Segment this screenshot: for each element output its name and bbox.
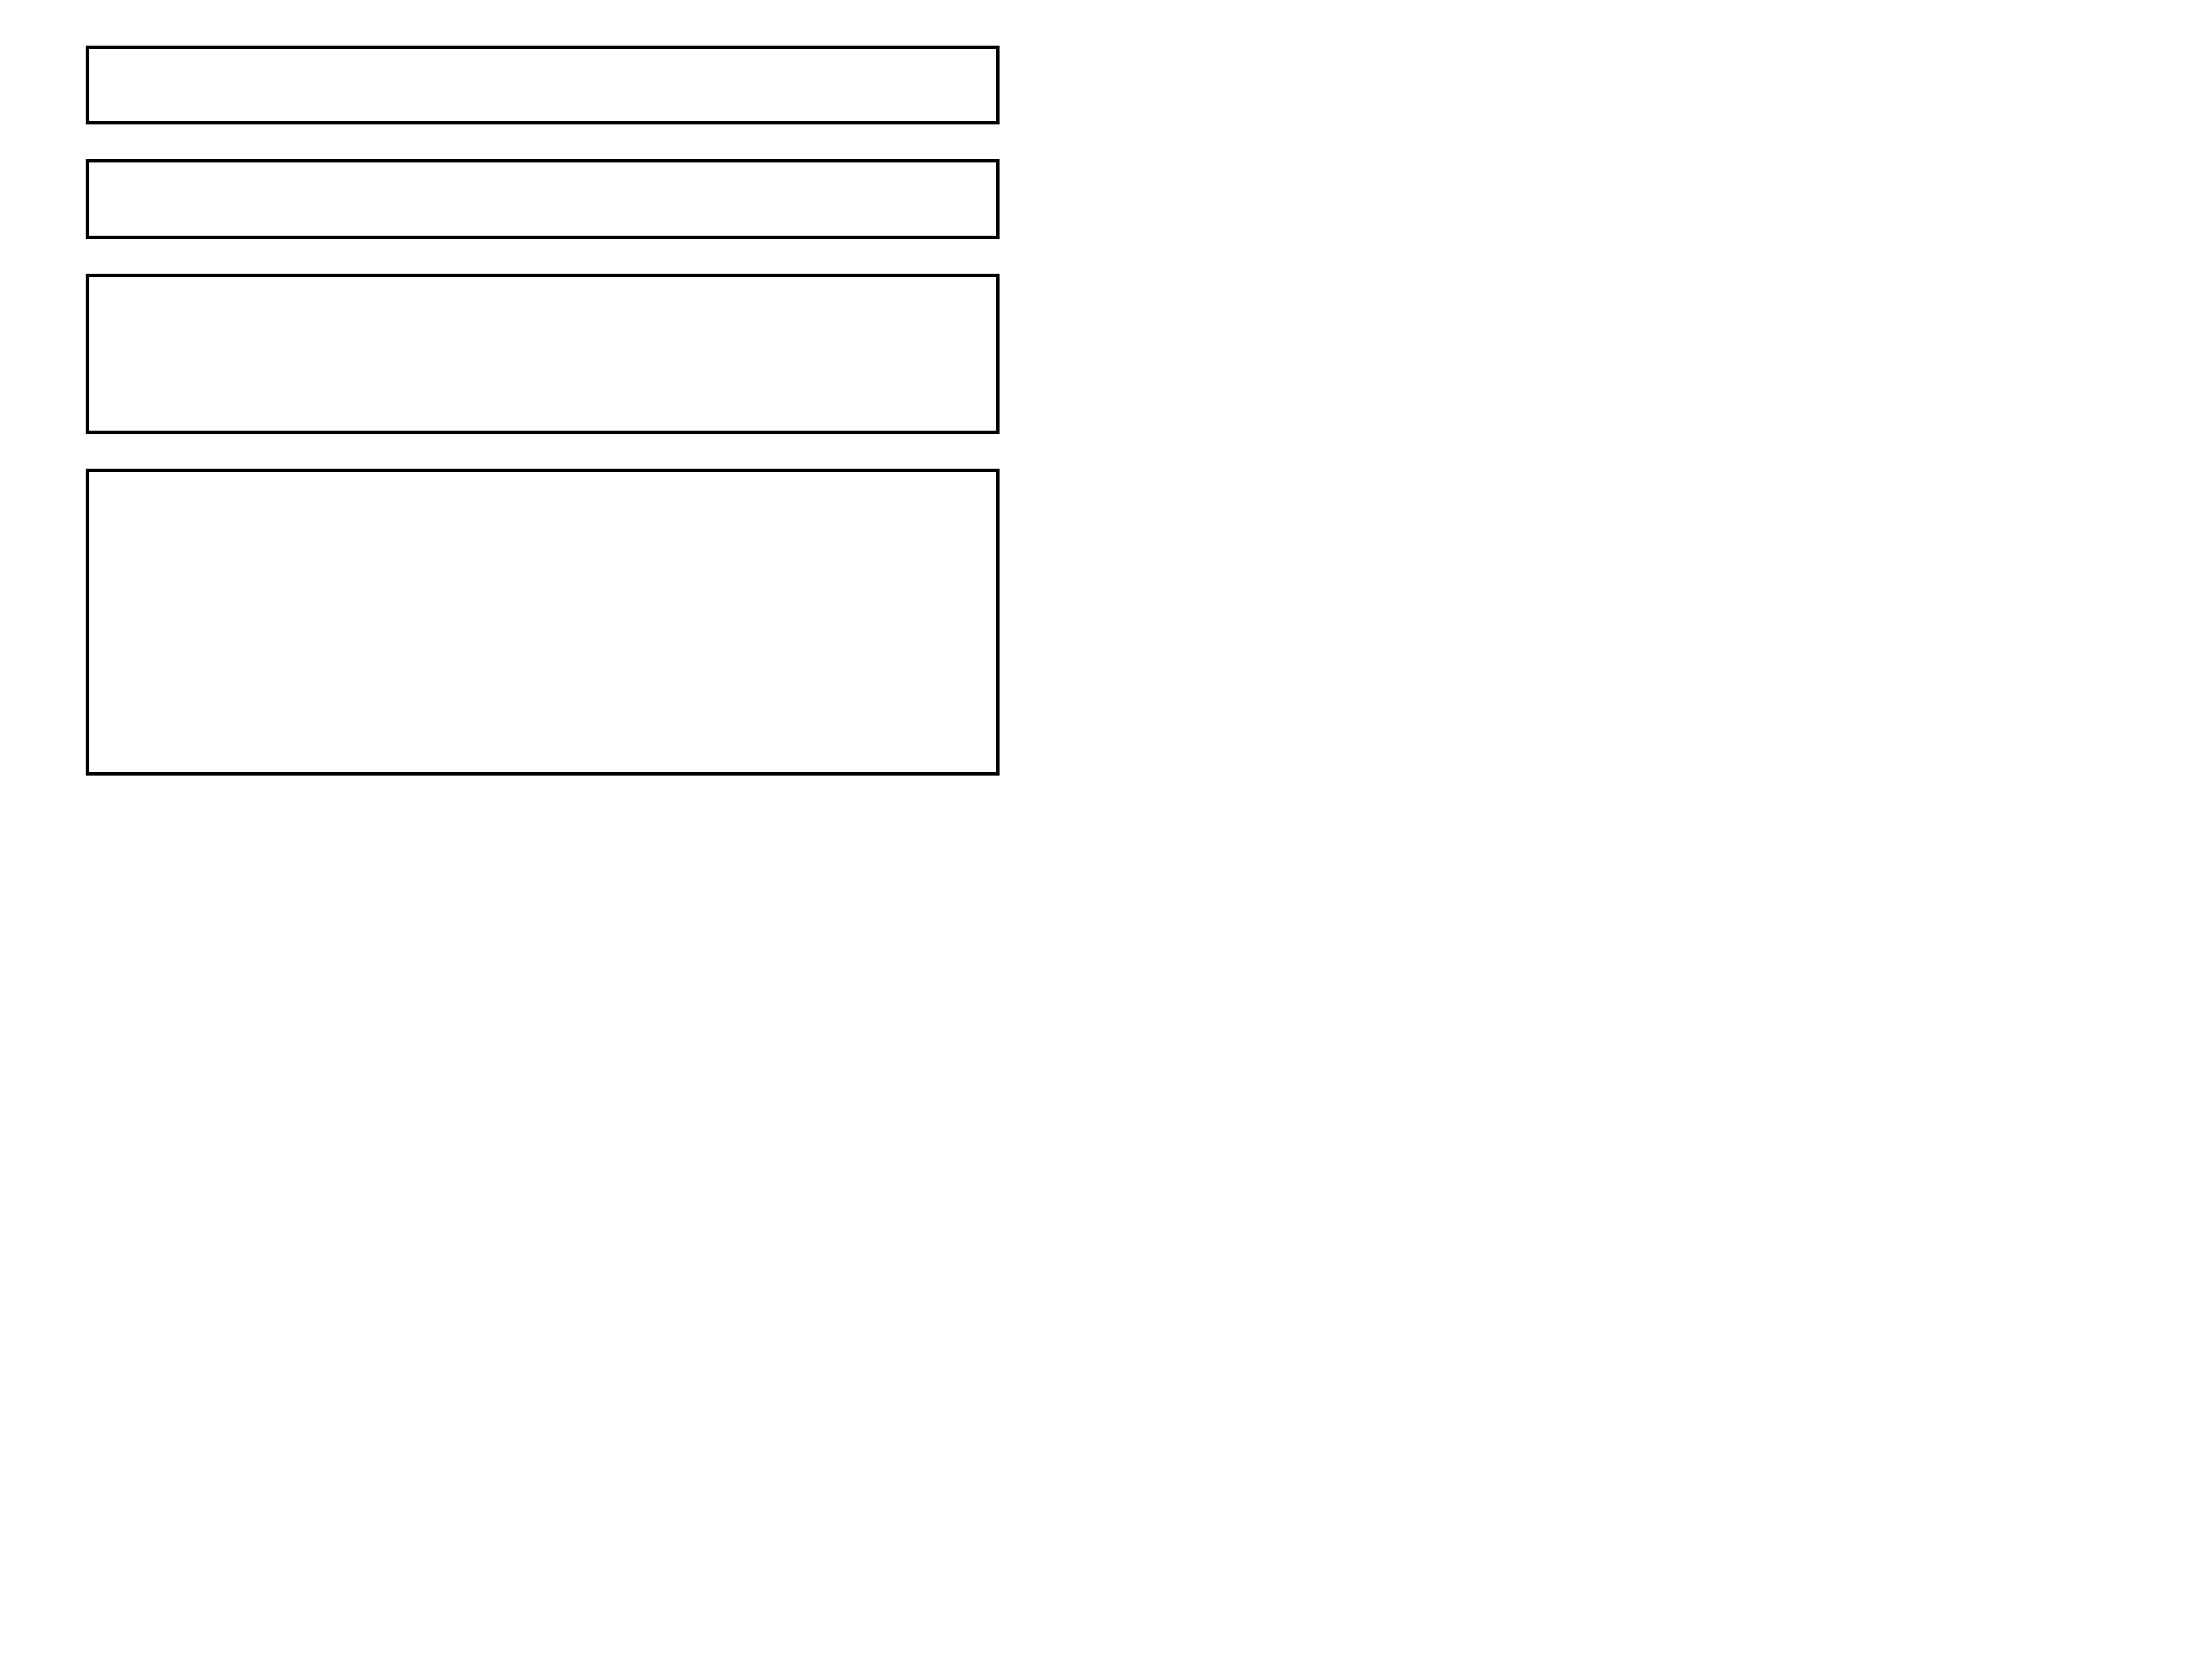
reads-panel[interactable] <box>86 469 1000 776</box>
isoforms-panel[interactable] <box>86 274 1000 434</box>
pacbio-model-panel[interactable] <box>86 159 1000 239</box>
gene-model-panel[interactable] <box>86 46 1000 124</box>
genome-browser-figure <box>0 0 2212 1659</box>
x-axis-tick-labels <box>0 1587 2212 1642</box>
